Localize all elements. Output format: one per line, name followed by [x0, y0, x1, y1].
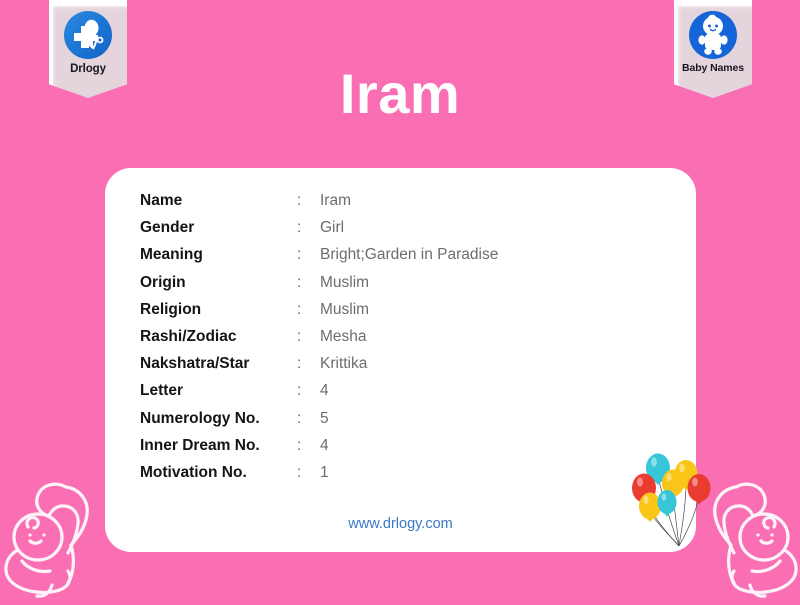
row-separator: :: [297, 246, 320, 264]
row-label: Origin: [140, 274, 297, 292]
table-row: Religion : Muslim: [140, 301, 660, 328]
row-separator: :: [297, 328, 320, 346]
mother-and-baby-motif-left: [0, 465, 112, 600]
row-separator: :: [297, 382, 320, 400]
row-value: Bright;Garden in Paradise: [320, 246, 498, 264]
table-row: Origin : Muslim: [140, 274, 660, 301]
table-row: Motivation No. : 1: [140, 464, 660, 491]
table-row: Inner Dream No. : 4: [140, 437, 660, 464]
row-separator: :: [297, 219, 320, 237]
row-label: Motivation No.: [140, 464, 297, 482]
row-label: Numerology No.: [140, 410, 297, 428]
row-label: Name: [140, 192, 297, 210]
table-row: Name : Iram: [140, 192, 660, 219]
row-value: Muslim: [320, 301, 369, 319]
table-row: Rashi/Zodiac : Mesha: [140, 328, 660, 355]
row-label: Meaning: [140, 246, 297, 264]
row-value: Iram: [320, 192, 351, 210]
row-separator: :: [297, 437, 320, 455]
row-label: Gender: [140, 219, 297, 237]
row-separator: :: [297, 274, 320, 292]
row-label: Rashi/Zodiac: [140, 328, 297, 346]
doctor-cross-icon: [62, 9, 114, 61]
row-value: Krittika: [320, 355, 367, 373]
row-separator: :: [297, 355, 320, 373]
name-details-table: Name : Iram Gender : Girl Meaning : Brig…: [140, 192, 660, 491]
row-separator: :: [297, 464, 320, 482]
row-separator: :: [297, 410, 320, 428]
row-separator: :: [297, 192, 320, 210]
row-value: Girl: [320, 219, 344, 237]
page-title: Iram: [0, 66, 800, 122]
name-details-card: Name : Iram Gender : Girl Meaning : Brig…: [105, 168, 696, 552]
row-label: Letter: [140, 382, 297, 400]
mother-and-baby-motif-right: [690, 465, 800, 600]
row-value: 5: [320, 410, 329, 428]
website-link[interactable]: www.drlogy.com: [105, 516, 696, 532]
table-row: Nakshatra/Star : Krittika: [140, 355, 660, 382]
baby-icon: [687, 9, 739, 61]
row-label: Inner Dream No.: [140, 437, 297, 455]
row-label: Religion: [140, 301, 297, 319]
table-row: Numerology No. : 5: [140, 410, 660, 437]
row-value: 4: [320, 382, 329, 400]
row-value: 4: [320, 437, 329, 455]
table-row: Meaning : Bright;Garden in Paradise: [140, 246, 660, 273]
row-value: Muslim: [320, 274, 369, 292]
row-value: 1: [320, 464, 329, 482]
row-label: Nakshatra/Star: [140, 355, 297, 373]
table-row: Gender : Girl: [140, 219, 660, 246]
row-separator: :: [297, 301, 320, 319]
row-value: Mesha: [320, 328, 367, 346]
table-row: Letter : 4: [140, 382, 660, 409]
poster-canvas: Drlogy Baby Names Iram: [0, 0, 800, 600]
